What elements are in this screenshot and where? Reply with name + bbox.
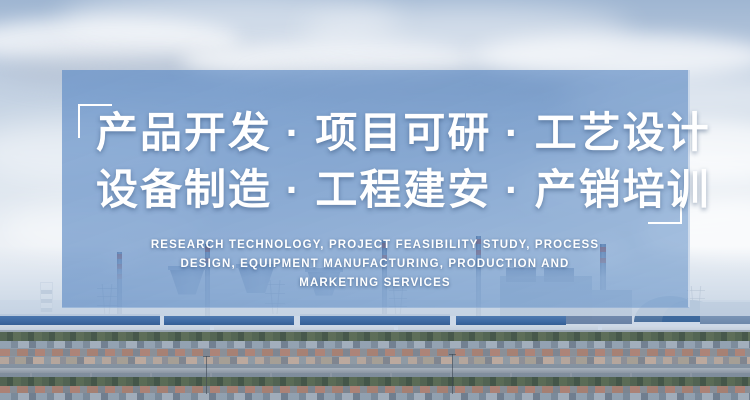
elevated-roadway	[0, 368, 750, 373]
foreground-industrial-sprawl	[0, 330, 750, 400]
headline-line-1: 产品开发 · 项目可研 · 工艺设计	[96, 104, 676, 161]
utility-pole	[206, 356, 207, 394]
factory-roof-row	[0, 341, 750, 348]
subtitle-line-1: RESEARCH TECHNOLOGY, PROJECT FEASIBILITY…	[115, 236, 635, 255]
factory-roof-row	[0, 393, 750, 400]
factory-roof-row	[0, 357, 750, 364]
blue-roof-warehouse	[456, 316, 566, 325]
tree-line	[0, 332, 750, 341]
factory-roof-row	[0, 386, 750, 393]
blue-roof-warehouse	[164, 316, 294, 325]
headline-line-2: 设备制造 · 工程建安 · 产销培训	[96, 161, 676, 218]
industrial-banner: 产品开发 · 项目可研 · 工艺设计 设备制造 · 工程建安 · 产销培训 RE…	[0, 0, 750, 400]
headline: 产品开发 · 项目可研 · 工艺设计 设备制造 · 工程建安 · 产销培训	[96, 104, 676, 218]
subtitle-line-2: DESIGN, EQUIPMENT MANUFACTURING, PRODUCT…	[115, 255, 635, 274]
subtitle: RESEARCH TECHNOLOGY, PROJECT FEASIBILITY…	[115, 236, 635, 293]
tree-line	[0, 377, 750, 386]
utility-pole	[452, 354, 453, 394]
subtitle-line-3: MARKETING SERVICES	[115, 274, 635, 293]
factory-roof-row	[0, 349, 750, 356]
